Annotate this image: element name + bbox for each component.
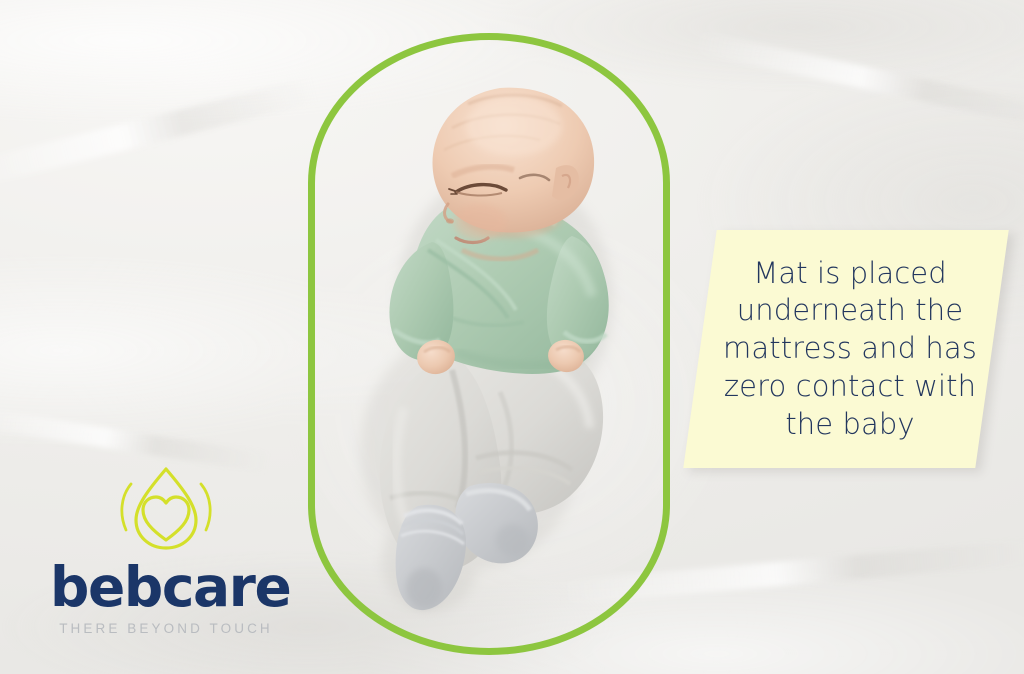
bebcare-logo: bebcare THERE BEYOND TOUCH bbox=[50, 462, 282, 636]
info-callout-text: Mat is placed underneath the mattress an… bbox=[723, 255, 977, 443]
bebcare-wordmark: bebcare bbox=[50, 560, 282, 615]
info-callout: Mat is placed underneath the mattress an… bbox=[683, 230, 1008, 468]
bebcare-tagline: THERE BEYOND TOUCH bbox=[50, 622, 282, 636]
poster-canvas: Mat is placed underneath the mattress an… bbox=[0, 0, 1024, 674]
heart-in-droplet-with-waves-icon bbox=[114, 462, 218, 558]
